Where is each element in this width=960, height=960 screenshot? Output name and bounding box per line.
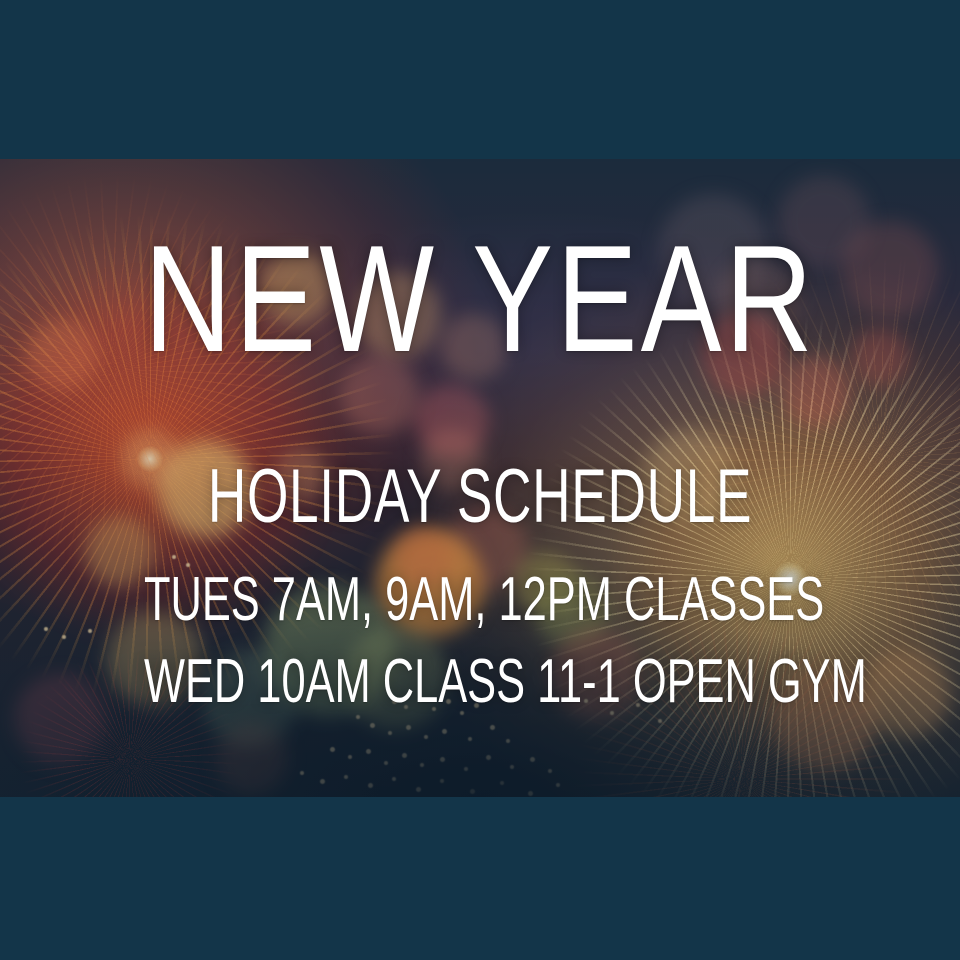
page-title: NEW YEAR	[96, 223, 864, 375]
schedule-line-tuesday: TUES 7AM, 9AM, 12PM CLASSES	[144, 569, 816, 631]
poster-subtitle: HOLIDAY SCHEDULE	[144, 459, 816, 535]
letterbox-band-bottom	[0, 797, 960, 960]
poster-copy: NEW YEAR HOLIDAY SCHEDULE TUES 7AM, 9AM,…	[0, 159, 960, 797]
letterbox-band-top	[0, 0, 960, 159]
schedule-line-wednesday: WED 10AM CLASS 11-1 OPEN GYM	[144, 651, 816, 713]
poster-canvas: NEW YEAR HOLIDAY SCHEDULE TUES 7AM, 9AM,…	[0, 0, 960, 960]
